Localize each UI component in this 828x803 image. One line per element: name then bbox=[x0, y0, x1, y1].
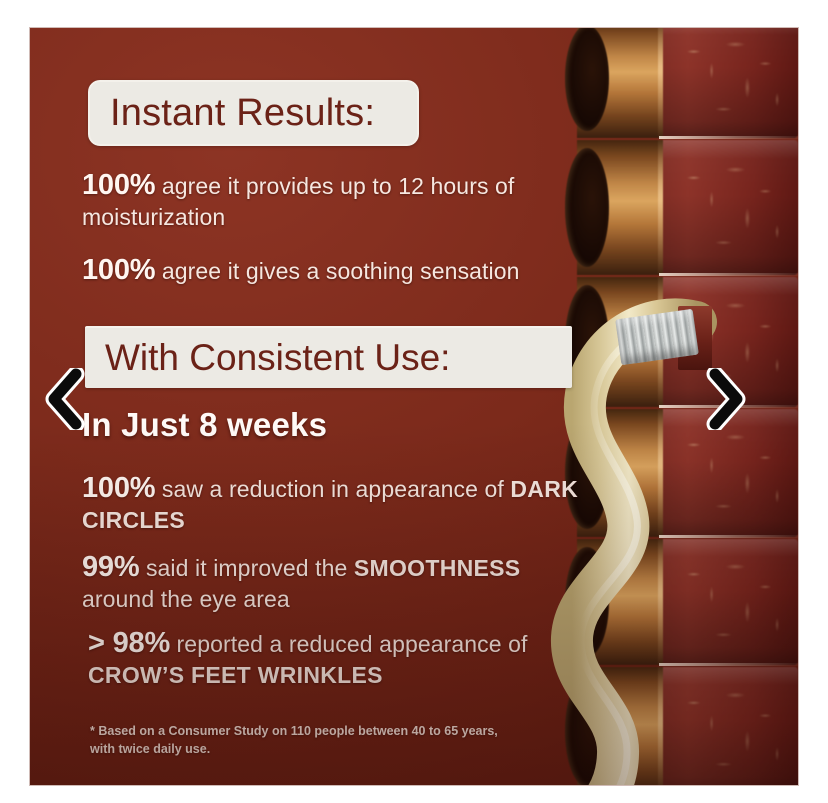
product-tube bbox=[563, 140, 798, 275]
page-root: Instant Results: 100% agree it provides … bbox=[0, 0, 828, 803]
subheading-label: In Just 8 weeks bbox=[82, 406, 327, 443]
tube-divider bbox=[659, 535, 798, 538]
product-tube bbox=[563, 539, 798, 665]
stat-crows-feet: > 98% reported a reduced appearance of C… bbox=[88, 626, 588, 689]
tube-body bbox=[649, 539, 798, 665]
tube-body bbox=[649, 28, 798, 138]
product-tube bbox=[563, 409, 798, 537]
stat-text: said it improved the bbox=[139, 555, 353, 581]
heading-with-consistent-use-label: With Consistent Use: bbox=[105, 337, 450, 379]
stat-percent: 100% bbox=[82, 254, 155, 286]
stat-percent: 100% bbox=[82, 472, 155, 504]
carousel-prev-button[interactable] bbox=[42, 368, 88, 430]
stat-emphasis: SMOOTHNESS bbox=[354, 555, 521, 581]
tube-divider bbox=[659, 273, 798, 276]
heading-instant-results: Instant Results: bbox=[88, 80, 419, 146]
footnote: * Based on a Consumer Study on 110 peopl… bbox=[90, 722, 520, 758]
stat-smoothness: 99% said it improved the SMOOTHNESS arou… bbox=[82, 550, 582, 613]
stat-percent: > 98% bbox=[88, 627, 170, 659]
heading-instant-results-label: Instant Results: bbox=[110, 92, 375, 135]
product-stack-image bbox=[563, 28, 798, 785]
stat-text: saw a reduction in appearance of bbox=[155, 476, 510, 502]
stat-percent: 99% bbox=[82, 551, 139, 583]
chevron-left-icon bbox=[42, 368, 88, 430]
tube-divider bbox=[659, 663, 798, 666]
carousel-next-button[interactable] bbox=[703, 368, 749, 430]
stat-emphasis: CROW’S FEET WRINKLES bbox=[88, 662, 383, 688]
stat-percent: 100% bbox=[82, 169, 155, 201]
tube-body bbox=[649, 140, 798, 275]
stat-soothing: 100% agree it gives a soothing sensation bbox=[82, 253, 582, 288]
slide-content: Instant Results: 100% agree it provides … bbox=[30, 28, 590, 785]
subheading-in-just-8-weeks: In Just 8 weeks bbox=[82, 406, 327, 444]
stat-moisturization: 100% agree it provides up to 12 hours of… bbox=[82, 168, 582, 231]
stat-text-after: around the eye area bbox=[82, 586, 290, 612]
product-tube bbox=[563, 667, 798, 785]
tube-divider bbox=[659, 136, 798, 139]
chevron-right-icon bbox=[703, 368, 749, 430]
stat-dark-circles: 100% saw a reduction in appearance of DA… bbox=[82, 471, 582, 534]
carousel-slide: Instant Results: 100% agree it provides … bbox=[30, 28, 798, 785]
stat-text: agree it gives a soothing sensation bbox=[155, 258, 519, 284]
product-tube bbox=[563, 28, 798, 138]
heading-with-consistent-use: With Consistent Use: bbox=[85, 326, 572, 388]
tube-body bbox=[649, 667, 798, 785]
stat-text: reported a reduced appearance of bbox=[170, 631, 528, 657]
